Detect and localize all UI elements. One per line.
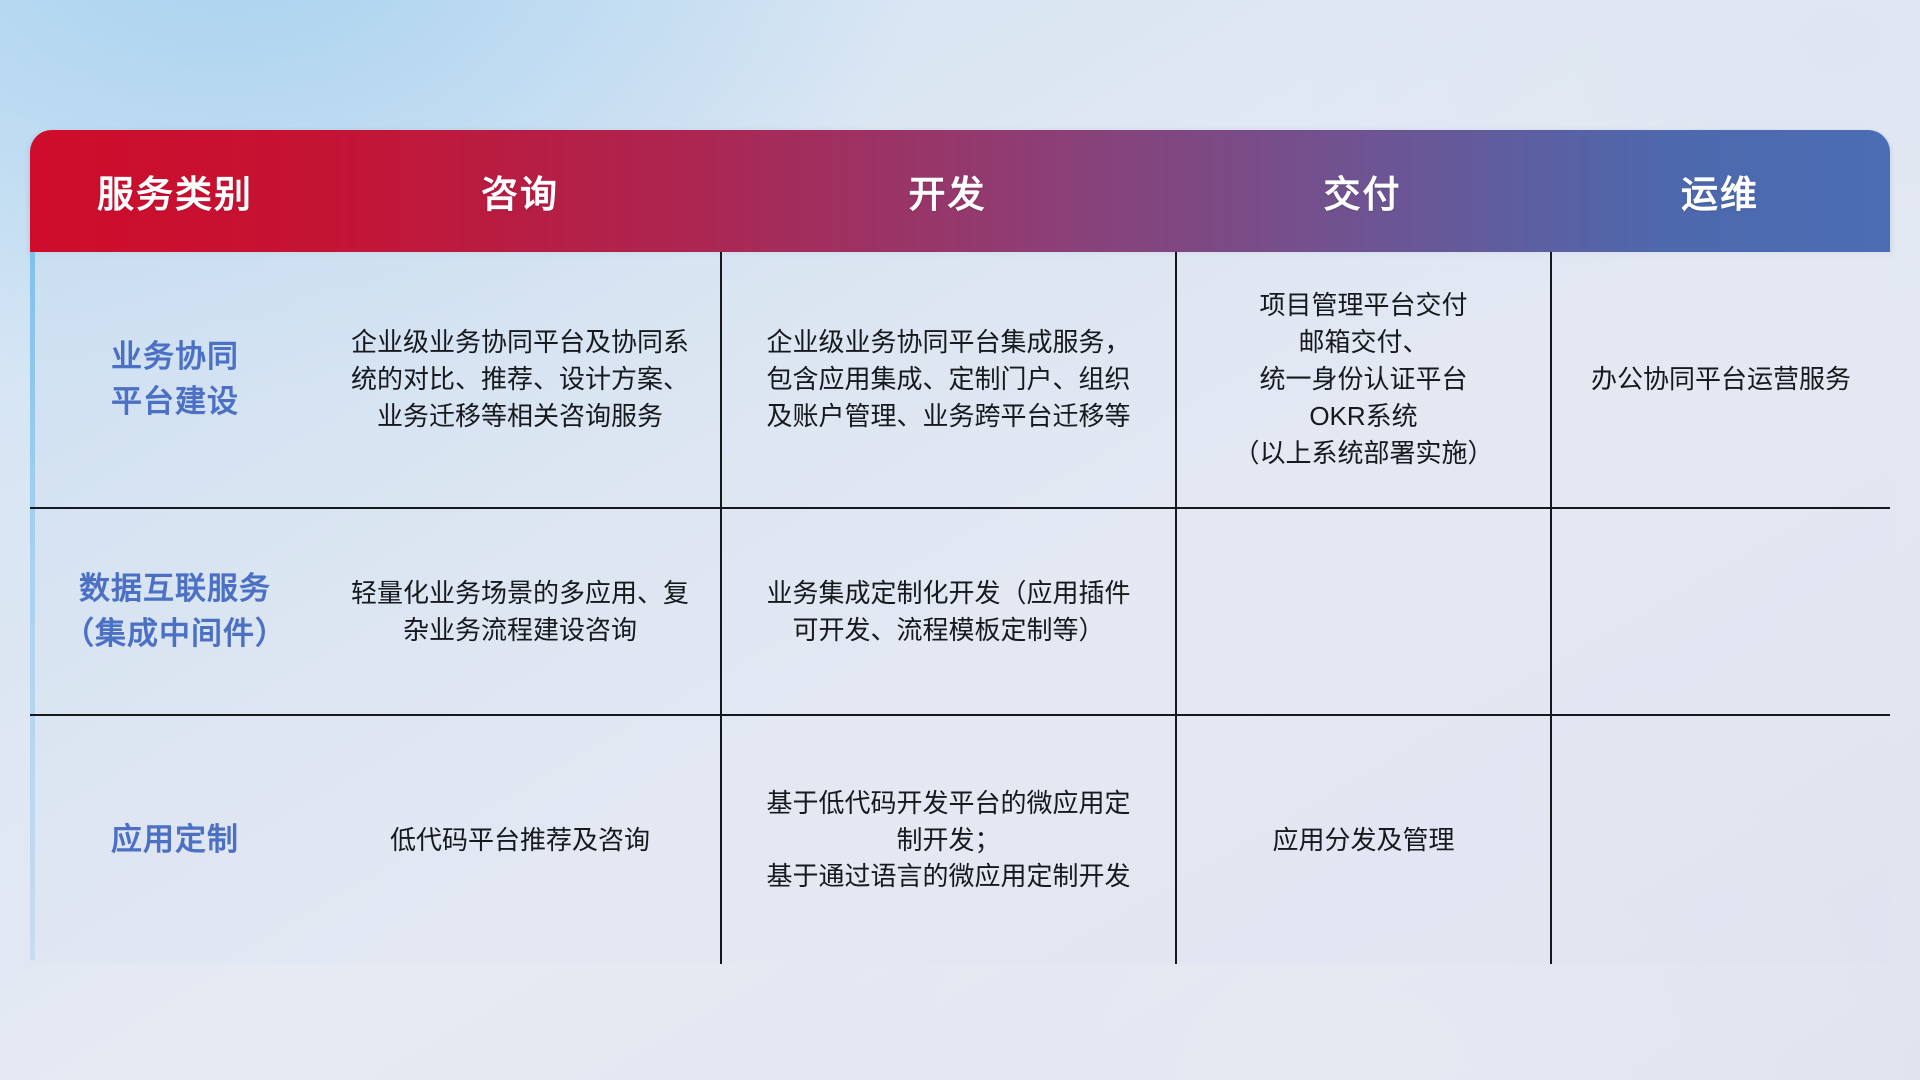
cell-delivery: 应用分发及管理 — [1175, 716, 1550, 964]
cell-consulting: 企业级业务协同平台及协同系 统的对比、推荐、设计方案、 业务迁移等相关咨询服务 — [320, 252, 720, 507]
table-row: 应用定制 低代码平台推荐及咨询 基于低代码开发平台的微应用定 制开发； 基于通过… — [30, 716, 1890, 964]
column-header-consulting: 咨询 — [320, 130, 720, 252]
cell-development: 基于低代码开发平台的微应用定 制开发； 基于通过语言的微应用定制开发 — [720, 716, 1175, 964]
row-label-data-interconnect: 数据互联服务 （集成中间件） — [30, 509, 320, 714]
cell-operations: 办公协同平台运营服务 — [1550, 252, 1890, 507]
column-header-development: 开发 — [720, 130, 1175, 252]
column-header-delivery: 交付 — [1175, 130, 1550, 252]
row-label-app-customization: 应用定制 — [30, 716, 320, 964]
cell-consulting: 低代码平台推荐及咨询 — [320, 716, 720, 964]
cell-development: 企业级业务协同平台集成服务， 包含应用集成、定制门户、组织 及账户管理、业务跨平… — [720, 252, 1175, 507]
table-row: 业务协同 平台建设 企业级业务协同平台及协同系 统的对比、推荐、设计方案、 业务… — [30, 252, 1890, 509]
cell-delivery: 项目管理平台交付 邮箱交付、 统一身份认证平台 OKR系统 （以上系统部署实施） — [1175, 252, 1550, 507]
cell-operations — [1550, 716, 1890, 964]
cell-consulting: 轻量化业务场景的多应用、复 杂业务流程建设咨询 — [320, 509, 720, 714]
table-header-row: 服务类别 咨询 开发 交付 运维 — [30, 130, 1890, 252]
row-label-business-collaboration: 业务协同 平台建设 — [30, 252, 320, 507]
column-header-operations: 运维 — [1550, 130, 1890, 252]
table-row: 数据互联服务 （集成中间件） 轻量化业务场景的多应用、复 杂业务流程建设咨询 业… — [30, 509, 1890, 716]
slide-canvas: 服务类别 咨询 开发 交付 运维 业务协同 平台建设 企业级业务协同平台及协同系… — [0, 0, 1920, 1080]
cell-operations — [1550, 509, 1890, 714]
column-header-service-category: 服务类别 — [30, 130, 320, 252]
table-body: 业务协同 平台建设 企业级业务协同平台及协同系 统的对比、推荐、设计方案、 业务… — [30, 252, 1890, 964]
cell-delivery — [1175, 509, 1550, 714]
cell-development: 业务集成定制化开发（应用插件 可开发、流程模板定制等） — [720, 509, 1175, 714]
service-matrix-table: 服务类别 咨询 开发 交付 运维 业务协同 平台建设 企业级业务协同平台及协同系… — [30, 130, 1890, 960]
